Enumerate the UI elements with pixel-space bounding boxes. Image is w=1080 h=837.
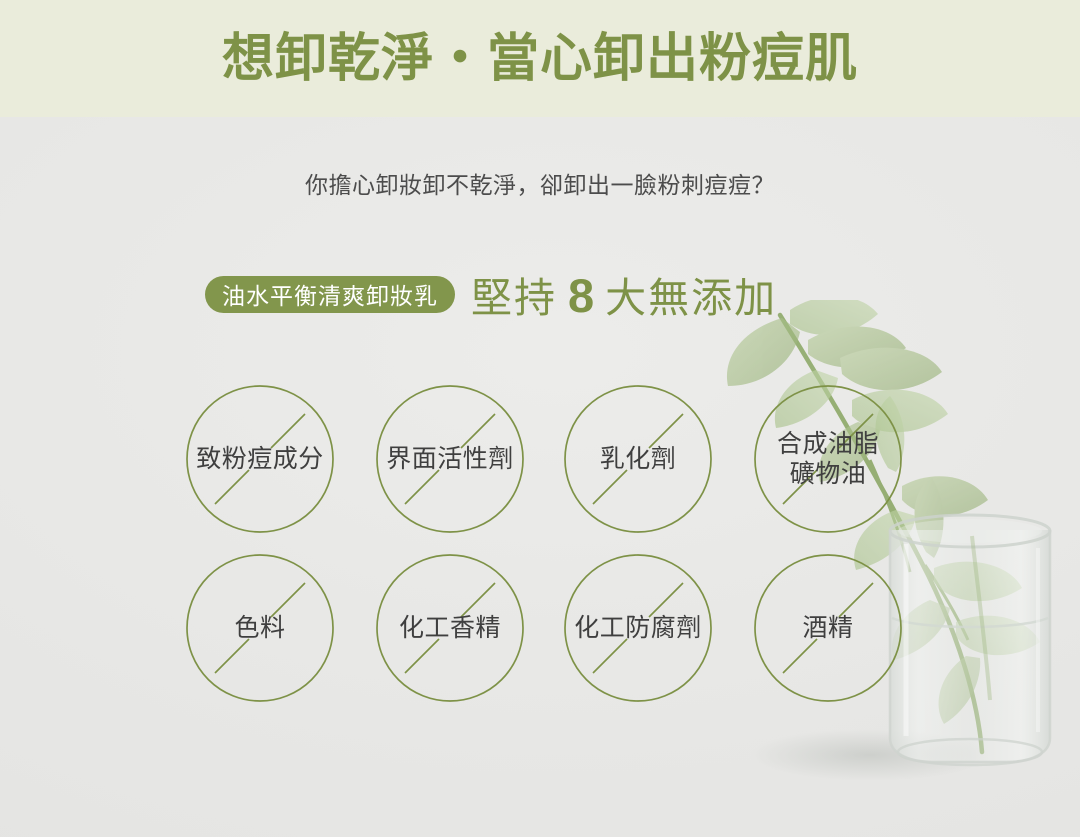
free-from-label-line: 化工香精 bbox=[399, 613, 501, 644]
free-from-label-line: 色料 bbox=[234, 613, 285, 644]
free-from-item: 界面活性劑 bbox=[375, 384, 525, 534]
free-from-label: 合成油脂礦物油 bbox=[735, 384, 921, 534]
free-from-item: 化工香精 bbox=[375, 553, 525, 703]
free-from-label-line: 化工防腐劑 bbox=[574, 613, 702, 644]
free-from-label-line: 酒精 bbox=[802, 613, 853, 644]
free-from-label: 致粉痘成分 bbox=[167, 384, 353, 534]
promo-banner: 想卸乾淨・當心卸出粉痘肌 你擔心卸妝卸不乾淨，卻卸出一臉粉刺痘痘？ 油水平衡清爽… bbox=[0, 0, 1080, 837]
free-from-item: 合成油脂礦物油 bbox=[753, 384, 903, 534]
free-from-item: 乳化劑 bbox=[563, 384, 713, 534]
free-from-label-line: 合成油脂 bbox=[777, 429, 879, 460]
free-from-label: 酒精 bbox=[735, 553, 921, 703]
free-from-label-line: 礦物油 bbox=[790, 459, 867, 490]
free-from-label-line: 致粉痘成分 bbox=[196, 444, 324, 475]
free-from-label: 化工防腐劑 bbox=[545, 553, 731, 703]
free-from-grid: 致粉痘成分界面活性劑乳化劑合成油脂礦物油色料化工香精化工防腐劑酒精 bbox=[0, 0, 1080, 837]
free-from-label: 化工香精 bbox=[357, 553, 543, 703]
free-from-label: 界面活性劑 bbox=[357, 384, 543, 534]
free-from-item: 色料 bbox=[185, 553, 335, 703]
free-from-label: 色料 bbox=[167, 553, 353, 703]
free-from-item: 酒精 bbox=[753, 553, 903, 703]
free-from-label-line: 乳化劑 bbox=[600, 444, 677, 475]
free-from-label-line: 界面活性劑 bbox=[386, 444, 514, 475]
free-from-label: 乳化劑 bbox=[545, 384, 731, 534]
free-from-item: 化工防腐劑 bbox=[563, 553, 713, 703]
free-from-item: 致粉痘成分 bbox=[185, 384, 335, 534]
